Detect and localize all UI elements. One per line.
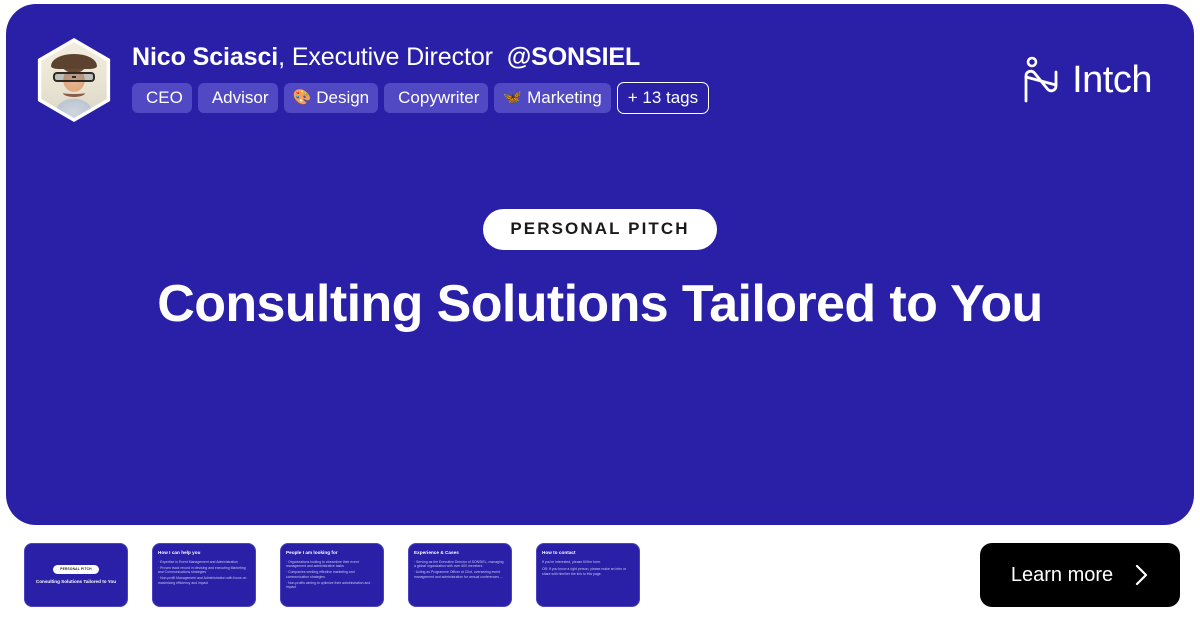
mini-line: · Acting as Programme Officer at CIIot, …	[414, 570, 506, 579]
profile-header: Nico Sciasci, Executive Director@SONSIEL…	[32, 38, 709, 122]
card-thumbnail-how-to-contact[interactable]: How to contact If you're interested, ple…	[536, 543, 640, 607]
learn-more-label: Learn more	[1011, 565, 1113, 585]
mini-heading: Experience & Cases	[414, 550, 506, 556]
tag-marketing[interactable]: 🦋Marketing	[494, 83, 610, 113]
tag-ceo[interactable]: CEO	[132, 83, 192, 113]
tag-label: Advisor	[212, 89, 269, 106]
mini-heading: How I can help you	[158, 550, 250, 556]
palette-icon: 🎨	[293, 90, 312, 105]
card-thumbnail-strip: PERSONAL PITCH Consulting Solutions Tail…	[24, 543, 640, 607]
avatar-hair	[51, 54, 97, 69]
profile-role: Executive Director	[292, 43, 493, 71]
tag-design[interactable]: 🎨Design	[284, 83, 379, 113]
tag-advisor[interactable]: Advisor	[198, 83, 278, 113]
mini-body: If you're interested, please fill the fo…	[542, 560, 634, 577]
butterfly-icon: 🦋	[503, 90, 522, 105]
profile-separator: ,	[278, 43, 292, 71]
mini-line: · Companies seeking effective marketing …	[286, 570, 378, 579]
profile-tags: CEO Advisor 🎨Design Copywriter 🦋Marketin…	[132, 82, 709, 114]
more-tags-button[interactable]: + 13 tags	[617, 82, 709, 114]
brand-name: Intch	[1072, 61, 1152, 99]
avatar-smile	[63, 89, 84, 97]
mini-heading: People I am looking for	[286, 550, 378, 556]
profile-name-line: Nico Sciasci, Executive Director@SONSIEL	[132, 42, 709, 72]
card-thumbnail-people-looking-for[interactable]: People I am looking for · Organizations …	[280, 543, 384, 607]
hero-panel: Nico Sciasci, Executive Director@SONSIEL…	[6, 4, 1194, 525]
profile-handle: @SONSIEL	[507, 43, 640, 71]
card-thumbnail-cover[interactable]: PERSONAL PITCH Consulting Solutions Tail…	[24, 543, 128, 607]
personal-pitch-badge: PERSONAL PITCH	[483, 209, 716, 250]
avatar-photo	[36, 42, 112, 118]
hero-center: PERSONAL PITCH Consulting Solutions Tail…	[6, 209, 1194, 334]
mini-body: · Expertise in Event Management and Admi…	[158, 560, 250, 586]
mini-badge: PERSONAL PITCH	[53, 565, 99, 575]
mini-line: · Serving as the Executive Director of S…	[414, 560, 506, 569]
intch-logo-icon	[1022, 56, 1060, 104]
page-title: Consulting Solutions Tailored to You	[6, 274, 1194, 334]
glasses-icon	[53, 72, 96, 82]
tag-label: Copywriter	[398, 89, 479, 106]
mini-heading: How to contact	[542, 550, 634, 556]
learn-more-button[interactable]: Learn more	[980, 543, 1180, 607]
chevron-right-icon	[1135, 563, 1149, 587]
tag-copywriter[interactable]: Copywriter	[384, 83, 488, 113]
mini-title: Consulting Solutions Tailored to You	[36, 579, 116, 585]
card-thumbnail-experience-cases[interactable]: Experience & Cases · Serving as the Exec…	[408, 543, 512, 607]
mini-line: · Organizations looking to streamline th…	[286, 560, 378, 569]
mini-line: · Expertise in Event Management and Admi…	[158, 560, 250, 565]
mini-line: · Non-profit Management and Administrati…	[158, 576, 250, 585]
mini-line: · Non-profits aiming to optimize their a…	[286, 581, 378, 590]
tag-label: Design	[316, 89, 369, 106]
mini-line: · Proven track record in devising and ex…	[158, 566, 250, 575]
profile-name: Nico Sciasci	[132, 43, 278, 71]
mini-line: If you're interested, please fill the fo…	[542, 560, 634, 565]
tag-label: Marketing	[527, 89, 602, 106]
mini-body: · Organizations looking to streamline th…	[286, 560, 378, 591]
avatar	[32, 38, 116, 122]
brand-logo: Intch	[1022, 56, 1152, 104]
mini-body: · Serving as the Executive Director of S…	[414, 560, 506, 580]
mini-line: OR: If you know a right person, please m…	[542, 567, 634, 576]
profile-text: Nico Sciasci, Executive Director@SONSIEL…	[132, 38, 709, 114]
card-thumbnail-how-i-can-help[interactable]: How I can help you · Expertise in Event …	[152, 543, 256, 607]
tag-label: CEO	[146, 89, 183, 106]
